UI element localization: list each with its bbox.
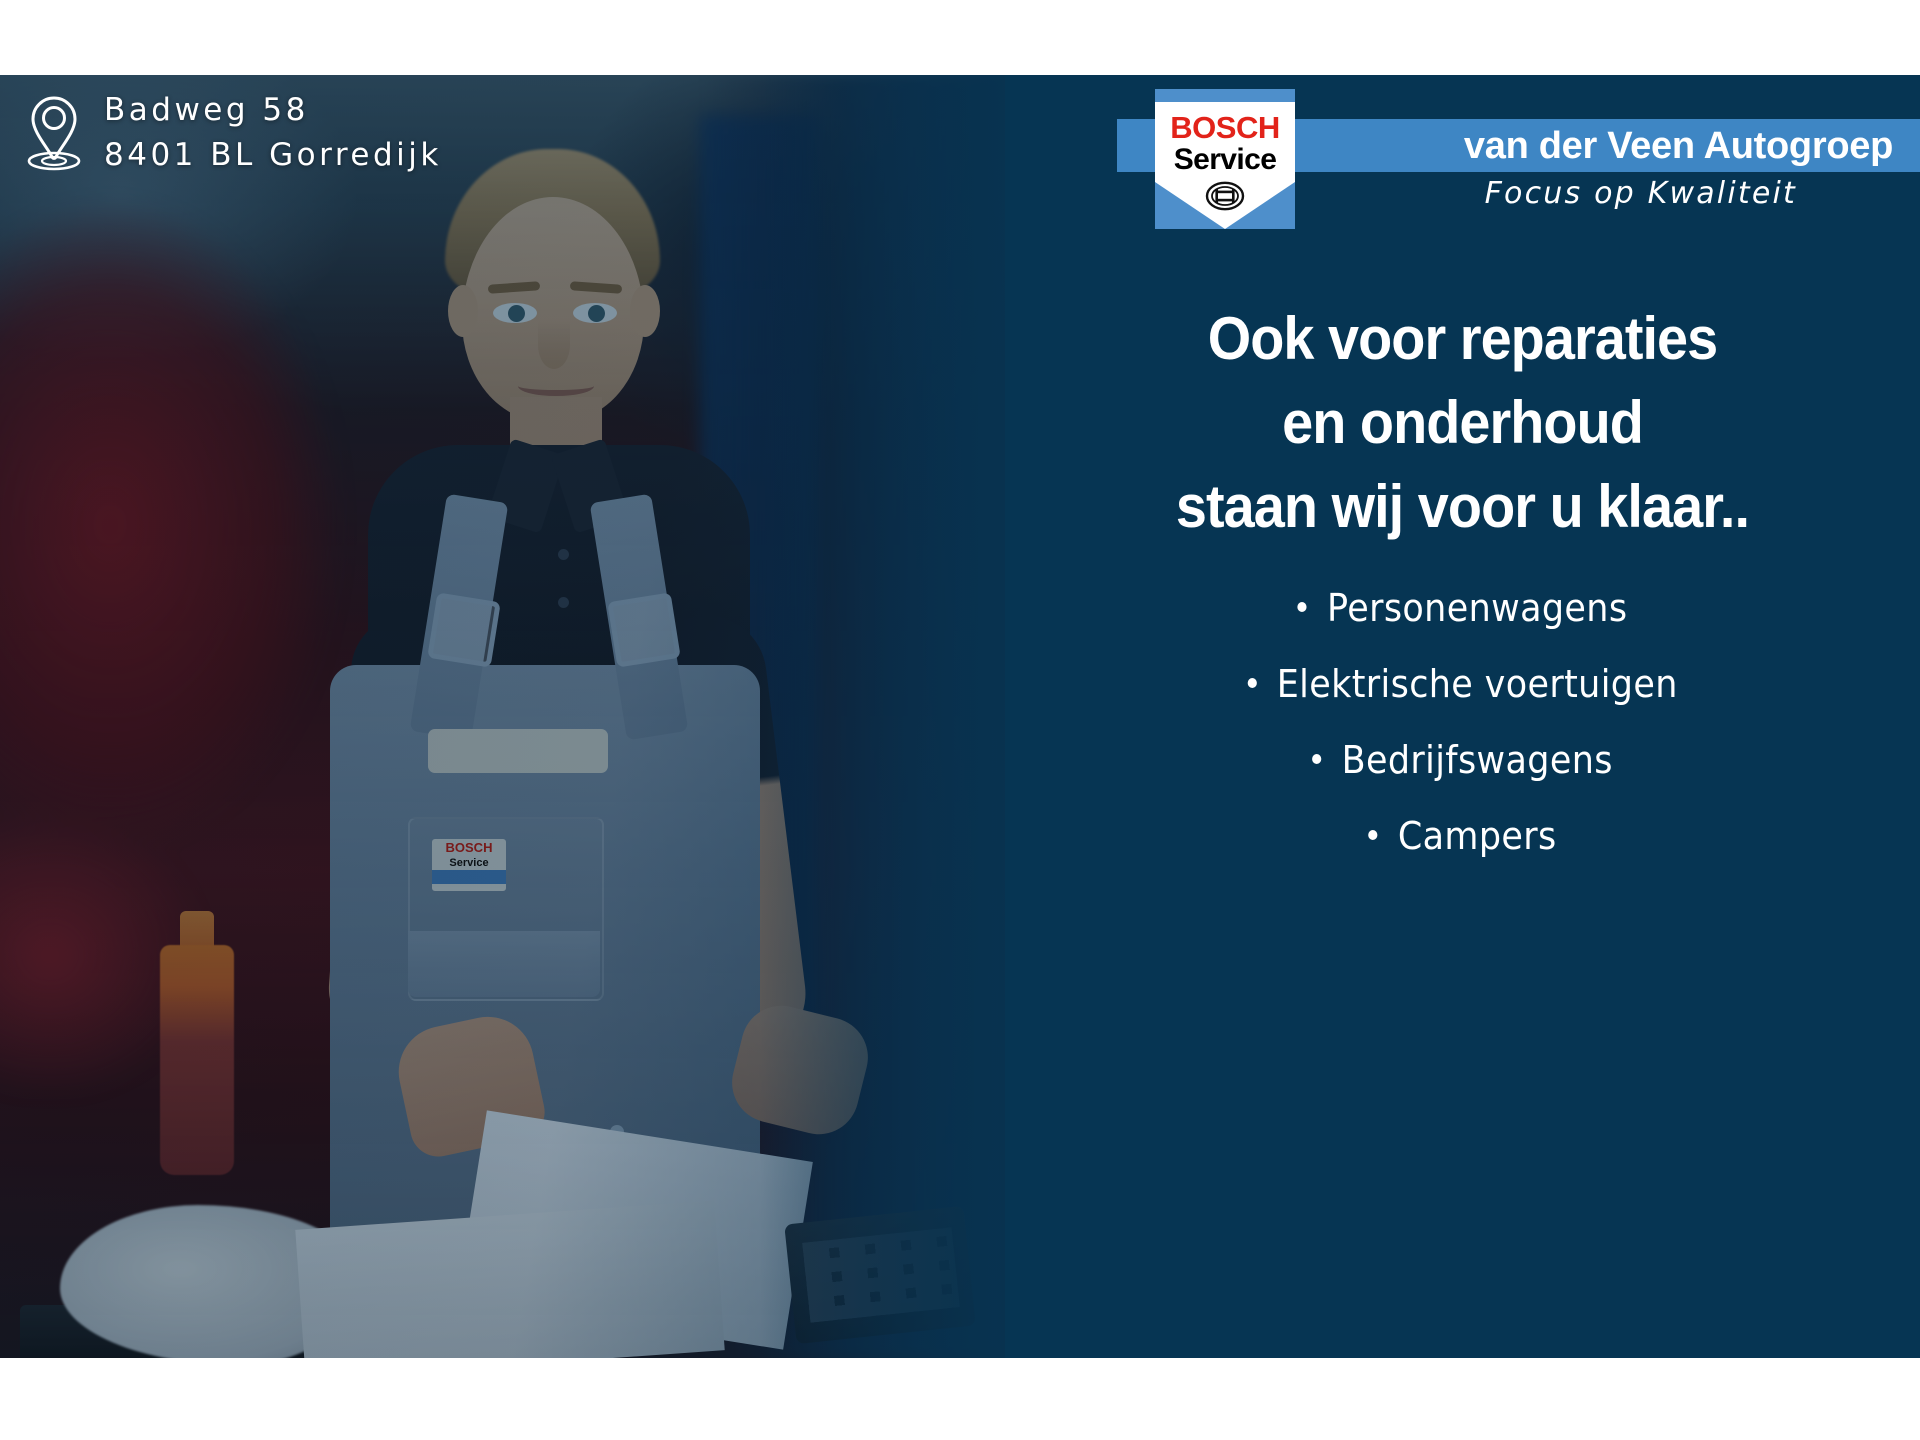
service-label: Elektrische voertuigen (1277, 662, 1678, 706)
bullet-icon (1368, 830, 1377, 840)
services-list: Personenwagens Elektrische voertuigen Be… (1005, 570, 1920, 874)
brand-header: BOSCH Service van der Veen Autogroep Foc… (1005, 75, 1920, 235)
headline-line-1: Ook voor reparaties (1037, 297, 1888, 381)
list-item: Campers (1042, 798, 1884, 874)
bullet-icon (1298, 602, 1307, 612)
advertisement-banner: BOSCH Service Badweg (0, 75, 1920, 1358)
headline-block: Ook voor reparaties en onderhoud staan w… (1037, 297, 1888, 549)
list-item: Bedrijfswagens (1042, 722, 1884, 798)
list-item: Personenwagens (1042, 570, 1884, 646)
bullet-icon (1312, 754, 1321, 764)
address-text-block: Badweg 58 8401 BL Gorredijk (104, 88, 442, 178)
address-street: Badweg 58 (104, 88, 442, 133)
headline-line-2: en onderhoud (1037, 381, 1888, 465)
headline-line-3: staan wij voor u klaar.. (1037, 465, 1888, 549)
service-label: Campers (1398, 814, 1557, 858)
content-panel: BOSCH Service van der Veen Autogroep Foc… (1005, 75, 1920, 1358)
company-tagline: Focus op Kwaliteit (1205, 176, 1905, 211)
map-pin-icon (26, 95, 82, 171)
address-postal-city: 8401 BL Gorredijk (104, 133, 442, 178)
service-label: Personenwagens (1327, 586, 1627, 630)
company-name: van der Veen Autogroep (1205, 124, 1905, 168)
bullet-icon (1247, 678, 1256, 688)
list-item: Elektrische voertuigen (1042, 646, 1884, 722)
service-label: Bedrijfswagens (1342, 738, 1613, 782)
photo-edge-fade (760, 75, 1005, 1358)
mechanic-photo: BOSCH Service (0, 75, 1005, 1358)
location-address: Badweg 58 8401 BL Gorredijk (26, 88, 442, 178)
